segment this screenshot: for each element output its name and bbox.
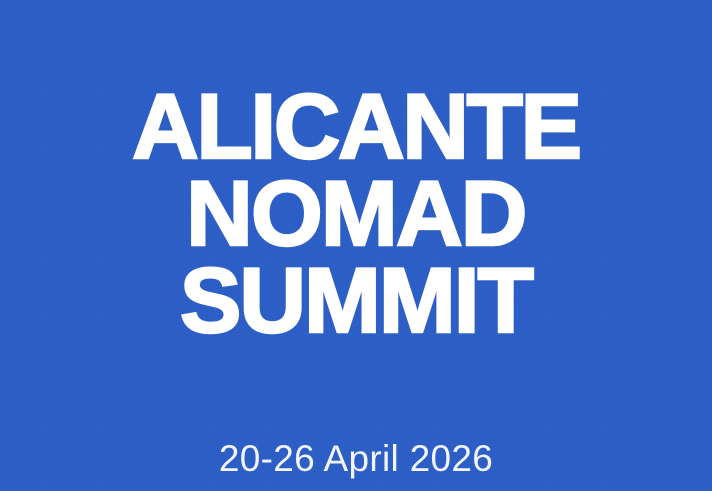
headline-line-nomad: NOMAD bbox=[0, 171, 712, 258]
event-date: 20-26 April 2026 bbox=[219, 440, 493, 479]
headline-line-summit: SUMMIT bbox=[0, 258, 712, 345]
poster-content: ALICANTE NOMAD SUMMIT 20-26 April 2026 W… bbox=[0, 0, 712, 491]
page-title: ALICANTE NOMAD SUMMIT bbox=[0, 62, 712, 345]
event-poster: ALICANTE NOMAD SUMMIT 20-26 April 2026 W… bbox=[0, 0, 712, 491]
headline-line-alicante: ALICANTE bbox=[0, 84, 712, 171]
